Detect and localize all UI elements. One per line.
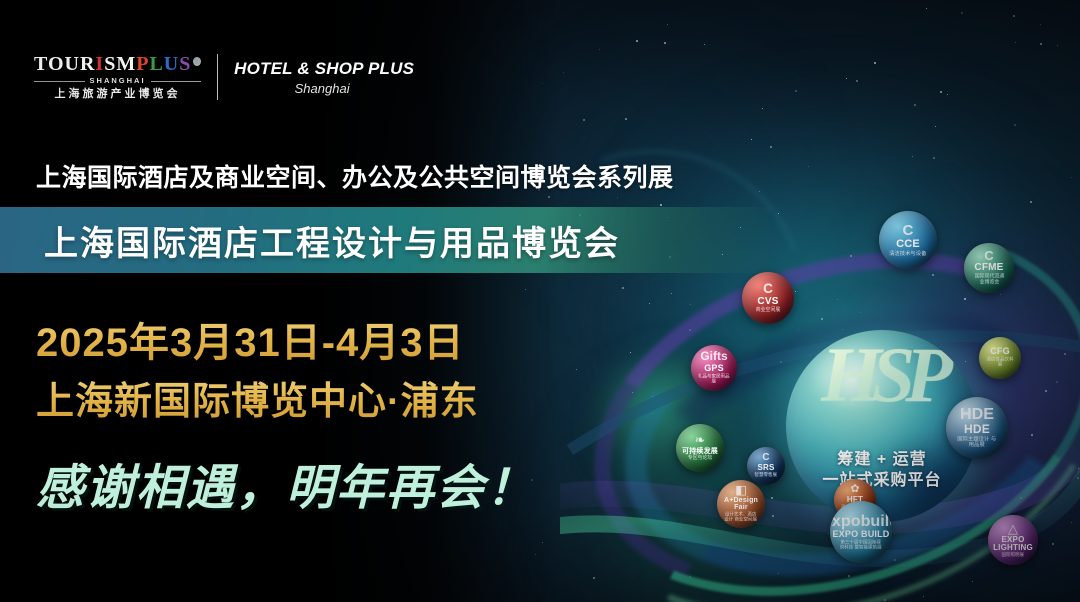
badge-mark-icon: ✿ bbox=[850, 484, 859, 495]
star bbox=[780, 361, 782, 363]
star bbox=[636, 40, 638, 42]
star bbox=[622, 287, 624, 289]
star bbox=[778, 573, 779, 574]
star bbox=[772, 515, 774, 517]
star bbox=[850, 255, 852, 257]
hotel-shop-plus-title: HOTEL & SHOP PLUS bbox=[234, 59, 414, 79]
star bbox=[548, 196, 550, 198]
star bbox=[690, 304, 691, 305]
badge-name: SRS bbox=[757, 464, 774, 472]
badge-subtitle: 国际现代流通 业博览会 bbox=[971, 274, 1006, 285]
badge-name: HDE bbox=[964, 423, 990, 435]
badge-subtitle: 礼品与家居用品展 bbox=[698, 374, 730, 384]
star bbox=[593, 577, 595, 579]
orbit-badge-green-leaf[interactable]: ❧可持续发展专区与论坛 bbox=[676, 424, 724, 472]
wordmark-part-4: L bbox=[149, 54, 163, 74]
badge-subtitle: 国际照明展 bbox=[1002, 552, 1025, 557]
orbit-badge-cfme[interactable]: CCFME国际现代流通 业博览会 bbox=[964, 243, 1014, 293]
hsp-monogram: HSP bbox=[786, 336, 978, 414]
wordmark-part-0: TOUR bbox=[34, 54, 95, 74]
badge-subtitle: 国际主题设计 与用品展 bbox=[955, 436, 999, 448]
wordmark-part-5: U bbox=[164, 54, 179, 74]
star bbox=[542, 542, 543, 543]
star bbox=[923, 596, 924, 597]
star bbox=[583, 119, 585, 121]
star bbox=[1045, 390, 1047, 392]
badge-subtitle: 第三十届中国国际建筑科技 暨智能建筑展 bbox=[839, 540, 883, 550]
star bbox=[617, 197, 618, 198]
star bbox=[630, 352, 631, 353]
star bbox=[771, 497, 773, 499]
star bbox=[1077, 477, 1079, 479]
orbit-badge-cce[interactable]: CCCE清洁技术与设备 bbox=[879, 211, 937, 269]
star bbox=[848, 575, 850, 577]
event-venue: 上海新国际博览中心·浦东 bbox=[36, 370, 479, 425]
star bbox=[947, 94, 948, 95]
tourism-plus-city: SHANGHAI bbox=[90, 77, 146, 85]
star bbox=[894, 559, 896, 561]
badge-mark-icon: △ bbox=[1008, 522, 1018, 535]
star bbox=[778, 213, 779, 214]
orbit-badge-srs[interactable]: CSRS智慧零售展 bbox=[747, 447, 785, 485]
star bbox=[1064, 353, 1066, 355]
badge-name: CFG bbox=[990, 347, 1010, 356]
logo-divider bbox=[217, 54, 218, 100]
star bbox=[837, 299, 838, 300]
star bbox=[660, 204, 662, 206]
tourism-plus-rule: SHANGHAI bbox=[34, 77, 201, 85]
star bbox=[1040, 24, 1041, 25]
wordmark-part-2: SM bbox=[104, 54, 136, 74]
rule-right bbox=[151, 81, 202, 82]
rule-left bbox=[34, 81, 85, 82]
star bbox=[1014, 124, 1016, 126]
orbit-badge-expo-lighting[interactable]: △EXPO LIGHTING国际照明展 bbox=[988, 515, 1038, 565]
star bbox=[1013, 15, 1015, 17]
banner-root: HSP 筹建 + 运营 一站式采购平台 CCCE清洁技术与设备CCFME国际现代… bbox=[0, 0, 1080, 602]
orbit-badge-hde[interactable]: HDEHDE国际主题设计 与用品展 bbox=[946, 397, 1008, 459]
badge-subtitle: 专区与论坛 bbox=[688, 455, 713, 461]
star bbox=[652, 396, 653, 397]
hotel-shop-plus-subtitle: Shanghai bbox=[234, 81, 414, 96]
star bbox=[1020, 497, 1022, 499]
star bbox=[632, 392, 633, 393]
badge-mark-icon: Gifts bbox=[700, 351, 727, 363]
sphere-caption: 筹建 + 运营 一站式采购平台 bbox=[786, 449, 978, 492]
series-headline: 上海国际酒店及商业空间、办公及公共空间博览会系列展 bbox=[36, 158, 674, 194]
star bbox=[664, 42, 666, 44]
star bbox=[933, 157, 935, 159]
star bbox=[795, 90, 797, 92]
star bbox=[940, 91, 942, 93]
star bbox=[563, 72, 564, 73]
badge-mark-icon: HDE bbox=[960, 406, 994, 422]
star bbox=[1030, 201, 1032, 203]
badge-name: EXPO LIGHTING bbox=[988, 536, 1038, 552]
star bbox=[914, 104, 916, 106]
star bbox=[649, 303, 650, 304]
star bbox=[821, 318, 823, 320]
orbit-badge-cfg[interactable]: CFG酒店食品饮料展 bbox=[979, 337, 1021, 379]
star bbox=[1040, 43, 1042, 45]
badge-mark-icon: C bbox=[903, 223, 914, 238]
event-date: 2025年3月31日-4月3日 bbox=[36, 310, 465, 368]
wordmark-part-3: P bbox=[136, 54, 149, 74]
badge-mark-icon: expobuild bbox=[830, 513, 892, 529]
badge-mark-icon: C bbox=[984, 249, 993, 262]
logo-lockup: TOURISM PLUS® SHANGHAI 上海旅游产业博览会 bbox=[34, 54, 466, 100]
sphere-caption-line2: 一站式采购平台 bbox=[786, 470, 978, 492]
star bbox=[671, 293, 672, 294]
star bbox=[1031, 434, 1033, 436]
star bbox=[770, 146, 772, 148]
hotel-shop-plus-logo: HOTEL & SHOP PLUS Shanghai bbox=[234, 59, 466, 96]
star bbox=[808, 166, 809, 167]
badge-subtitle: 智慧零售展 bbox=[755, 473, 778, 478]
badge-subtitle: 酒店食品饮料展 bbox=[985, 357, 1015, 367]
star bbox=[1000, 294, 1001, 295]
star bbox=[1057, 45, 1058, 46]
star bbox=[625, 118, 627, 120]
badge-subtitle: 清洁技术与设备 bbox=[889, 250, 926, 256]
star bbox=[751, 139, 752, 140]
badge-mark-icon: C bbox=[763, 282, 773, 296]
star bbox=[1071, 522, 1072, 523]
badge-mark-icon: ❧ bbox=[695, 434, 705, 446]
badge-mark-icon: C bbox=[762, 453, 769, 463]
star bbox=[535, 554, 536, 555]
badge-name: CCE bbox=[896, 239, 920, 250]
star bbox=[542, 83, 543, 84]
expo-title: 上海国际酒店工程设计与用品博览会 bbox=[44, 216, 620, 265]
star bbox=[964, 298, 966, 300]
badge-mark-icon: ◧ bbox=[735, 484, 747, 496]
star bbox=[874, 62, 876, 64]
badge-name: EXPO BUILD bbox=[832, 530, 889, 539]
star bbox=[667, 24, 668, 25]
wordmark-part-6: S bbox=[179, 54, 191, 74]
star bbox=[576, 369, 577, 370]
star bbox=[525, 289, 526, 290]
star bbox=[689, 576, 691, 578]
tourism-plus-logo: TOURISM PLUS® SHANGHAI 上海旅游产业博览会 bbox=[34, 54, 201, 100]
star bbox=[704, 44, 705, 45]
star bbox=[1071, 177, 1072, 178]
star bbox=[846, 78, 847, 79]
star bbox=[856, 80, 858, 82]
badge-subtitle: 商业空间展 bbox=[756, 307, 781, 313]
orbit-badge-expo-build[interactable]: expobuildEXPO BUILD第三十届中国国际建筑科技 暨智能建筑展 bbox=[830, 501, 892, 563]
badge-name: A+Design Fair bbox=[717, 497, 765, 511]
crescent-arc-icon bbox=[404, 47, 470, 113]
wordmark-part-1: I bbox=[95, 54, 104, 74]
badge-name: CFME bbox=[974, 263, 1003, 273]
star bbox=[762, 108, 763, 109]
sphere-caption-line1: 筹建 + 运营 bbox=[786, 449, 978, 471]
orbit-badge-design-fair[interactable]: ◧A+Design Fair设计艺术、酒店设计 商业空间展 bbox=[717, 480, 765, 528]
badge-name: CVS bbox=[757, 297, 778, 307]
star bbox=[884, 599, 886, 601]
badge-name: GPS bbox=[704, 364, 724, 373]
star bbox=[972, 581, 973, 582]
orbit-badge-cvs[interactable]: CCVS商业空间展 bbox=[742, 272, 794, 324]
star bbox=[961, 12, 963, 14]
star bbox=[795, 291, 796, 292]
badge-name: 可持续发展 bbox=[682, 448, 718, 455]
star bbox=[935, 126, 936, 127]
star bbox=[759, 191, 760, 192]
star bbox=[932, 274, 934, 276]
star bbox=[1052, 543, 1054, 545]
star bbox=[860, 312, 861, 313]
star bbox=[912, 156, 913, 157]
badge-subtitle: 设计艺术、酒店设计 商业空间展 bbox=[724, 513, 758, 523]
star bbox=[599, 49, 600, 50]
orbit-badge-gps[interactable]: GiftsGPS礼品与家居用品展 bbox=[691, 345, 737, 391]
star bbox=[926, 8, 927, 9]
star bbox=[652, 413, 653, 414]
tourism-plus-wordmark: TOURISM PLUS® bbox=[34, 54, 201, 74]
star bbox=[1078, 468, 1079, 469]
star bbox=[1056, 381, 1058, 383]
star bbox=[1015, 42, 1016, 43]
registered-mark: ® bbox=[193, 57, 201, 66]
star bbox=[689, 329, 691, 331]
tourism-plus-name-cn: 上海旅游产业博览会 bbox=[55, 89, 181, 100]
farewell-slogan: 感谢相遇，明年再会！ bbox=[36, 448, 536, 518]
